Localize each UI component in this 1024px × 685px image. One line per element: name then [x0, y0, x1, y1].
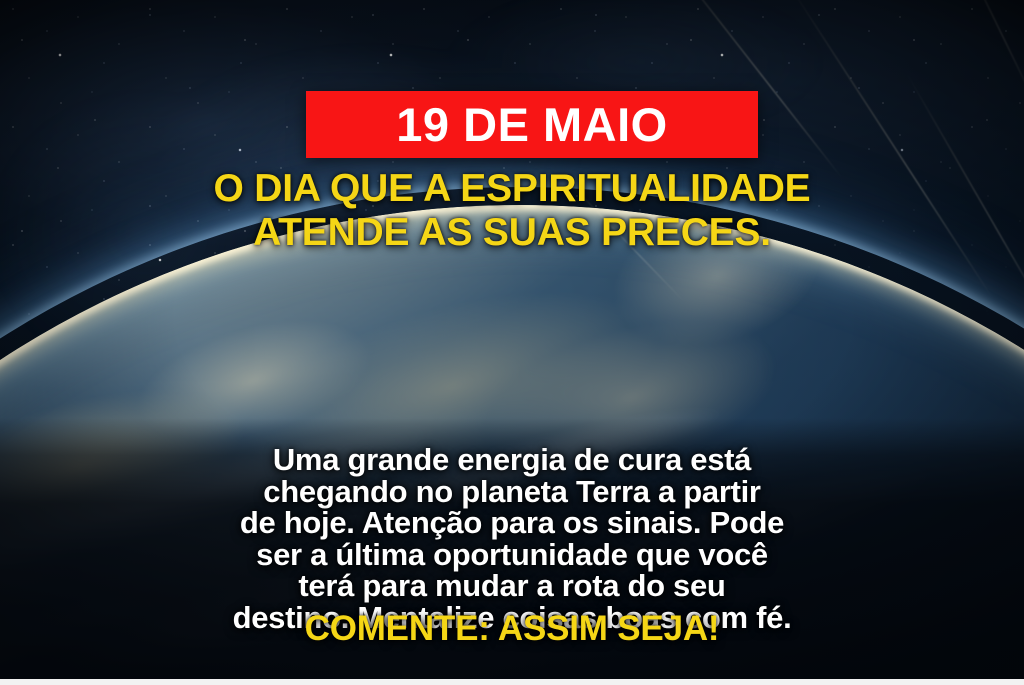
- headline-line-1: O DIA QUE A ESPIRITUALIDADE: [46, 167, 978, 211]
- bottom-edge-strip: [0, 679, 1024, 685]
- poster-canvas: 19 DE MAIO O DIA QUE A ESPIRITUALIDADE A…: [0, 0, 1024, 685]
- headline: O DIA QUE A ESPIRITUALIDADE ATENDE AS SU…: [0, 167, 1024, 254]
- headline-line-2: ATENDE AS SUAS PRECES.: [46, 211, 978, 255]
- body-line-3: de hoje. Atenção para os sinais. Pode: [58, 507, 966, 539]
- date-badge-text: 19 DE MAIO: [396, 101, 667, 148]
- date-badge: 19 DE MAIO: [306, 91, 758, 158]
- body-line-1: Uma grande energia de cura está: [58, 444, 966, 476]
- body-line-5: terá para mudar a rota do seu: [58, 570, 966, 602]
- body-line-2: chegando no planeta Terra a partir: [58, 476, 966, 508]
- call-to-action-text: COMENTE: ASSIM SEJA!: [0, 611, 1024, 646]
- body-line-4: ser a última oportunidade que você: [58, 539, 966, 571]
- body-copy: Uma grande energia de cura está chegando…: [0, 444, 1024, 634]
- poster-content: 19 DE MAIO O DIA QUE A ESPIRITUALIDADE A…: [0, 0, 1024, 685]
